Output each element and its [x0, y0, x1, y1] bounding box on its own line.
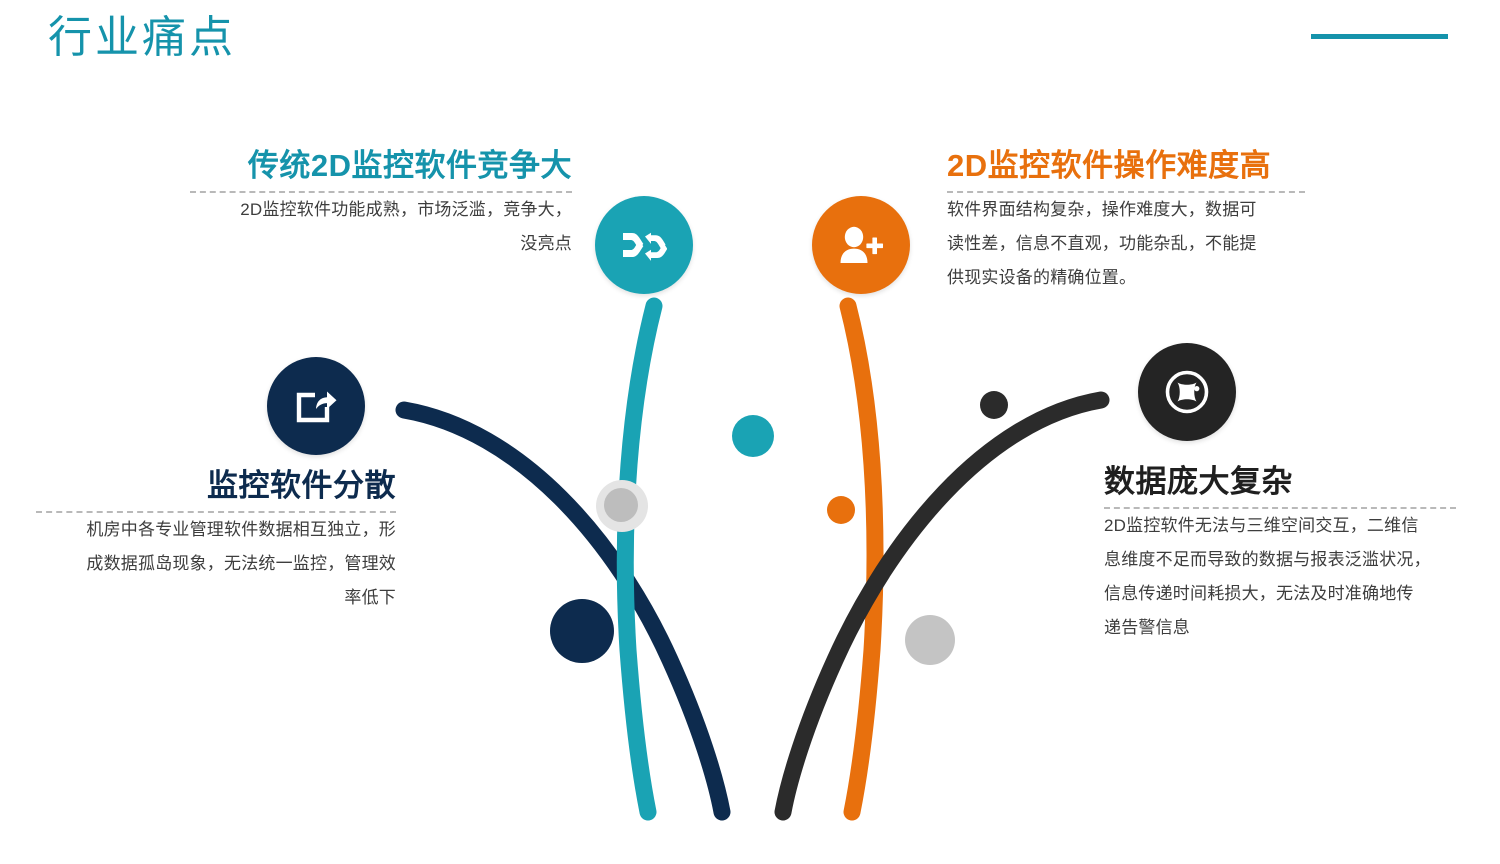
- callout-body: 机房中各专业管理软件数据相互独立，形 成数据孤岛现象，无法统一监控，管理效 率低…: [36, 513, 396, 615]
- icon-medallion-share-export[interactable]: [267, 357, 365, 455]
- fan-graphic: [0, 0, 1500, 864]
- callout-body-line: 机房中各专业管理软件数据相互独立，形: [36, 513, 396, 547]
- user-plus-icon: [838, 225, 884, 265]
- callout-body: 2D监控软件无法与三维空间交互，二维信 息维度不足而导致的数据与报表泛滥状况， …: [1104, 509, 1456, 645]
- disc-record-icon: [1164, 369, 1210, 415]
- callout-top-right: 2D监控软件操作难度高 软件界面结构复杂，操作难度大，数据可 读性差，信息不直观…: [947, 146, 1305, 295]
- callout-top-left: 传统2D监控软件竞争大 2D监控软件功能成熟，市场泛滥，竞争大， 没亮点: [190, 146, 572, 261]
- callout-bottom-right: 数据庞大复杂 2D监控软件无法与三维空间交互，二维信 息维度不足而导致的数据与报…: [1104, 462, 1456, 645]
- icon-medallion-shuffle[interactable]: [595, 196, 693, 294]
- shuffle-icon: [621, 227, 667, 263]
- icon-medallion-user-plus[interactable]: [812, 196, 910, 294]
- callout-body-line: 成数据孤岛现象，无法统一监控，管理效: [36, 547, 396, 581]
- callout-body-line: 2D监控软件无法与三维空间交互，二维信: [1104, 509, 1456, 543]
- callout-heading: 数据庞大复杂: [1104, 462, 1456, 502]
- share-export-icon: [294, 387, 338, 425]
- callout-heading: 监控软件分散: [36, 466, 396, 506]
- callout-body-line: 信息传递时间耗损大，无法及时准确地传: [1104, 577, 1456, 611]
- stem-dark: [783, 400, 1101, 812]
- dot-grey-ringed: [604, 488, 638, 522]
- callout-body-line: 率低下: [36, 581, 396, 615]
- callout-body: 2D监控软件功能成熟，市场泛滥，竞争大， 没亮点: [190, 193, 572, 261]
- callout-bottom-left: 监控软件分散 机房中各专业管理软件数据相互独立，形 成数据孤岛现象，无法统一监控…: [36, 466, 396, 615]
- callout-body-line: 供现实设备的精确位置。: [947, 261, 1305, 295]
- dot-navy: [550, 599, 614, 663]
- callout-body-line: 2D监控软件功能成熟，市场泛滥，竞争大，: [190, 193, 572, 227]
- callout-body-line: 递告警信息: [1104, 611, 1456, 645]
- dot-grey: [905, 615, 955, 665]
- callout-heading: 2D监控软件操作难度高: [947, 146, 1305, 186]
- callout-body-line: 软件界面结构复杂，操作难度大，数据可: [947, 193, 1305, 227]
- dot-dark: [980, 391, 1008, 419]
- stem-teal: [625, 306, 654, 812]
- callout-body: 软件界面结构复杂，操作难度大，数据可 读性差，信息不直观，功能杂乱，不能提 供现…: [947, 193, 1305, 295]
- callout-body-line: 没亮点: [190, 227, 572, 261]
- slide-canvas: 行业痛点: [0, 0, 1500, 864]
- callout-body-line: 读性差，信息不直观，功能杂乱，不能提: [947, 227, 1305, 261]
- icon-medallion-disc-record[interactable]: [1138, 343, 1236, 441]
- callout-heading: 传统2D监控软件竞争大: [190, 146, 572, 186]
- dot-teal: [732, 415, 774, 457]
- callout-body-line: 息维度不足而导致的数据与报表泛滥状况，: [1104, 543, 1456, 577]
- stem-orange: [848, 306, 875, 812]
- dot-orange: [827, 496, 855, 524]
